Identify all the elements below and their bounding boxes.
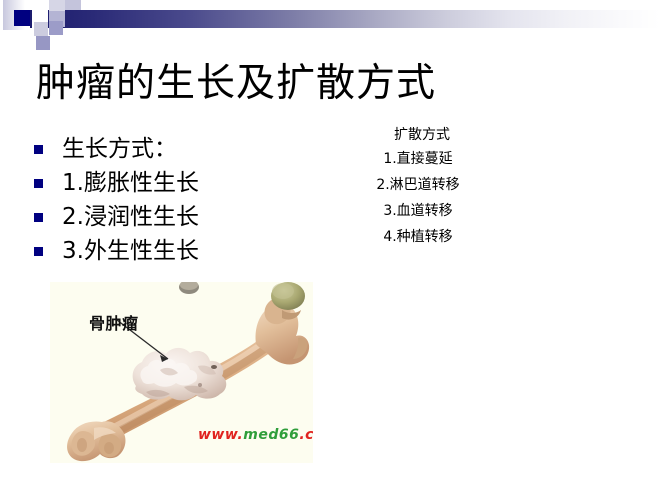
list-item: 3.外生性生长	[34, 234, 294, 268]
list-item-label: 1.膨胀性生长	[62, 170, 199, 196]
list-item: 1.膨胀性生长	[34, 166, 294, 200]
list-item-label: 2.浸润性生长	[62, 204, 199, 230]
watermark-prefix: www.	[198, 427, 243, 443]
header-gradient-bar	[30, 10, 660, 28]
page-title: 肿瘤的生长及扩散方式	[36, 61, 436, 107]
femur-distal-end	[67, 421, 125, 461]
square-bullet-icon	[34, 247, 43, 256]
list-item: 2.浸润性生长	[34, 200, 294, 234]
watermark: www.med66.com	[198, 427, 313, 443]
bone-fragment	[179, 282, 199, 294]
bone-tumor-mass	[133, 348, 227, 401]
growth-methods-list: 生长方式： 1.膨胀性生长 2.浸润性生长 3.外生性生长	[34, 132, 294, 268]
list-item-label: 3.血道转移	[318, 198, 518, 224]
watermark-suffix: .com	[299, 427, 313, 443]
watermark-mid: med66	[243, 427, 299, 443]
header-decoration	[0, 0, 660, 46]
spread-list-heading: 扩散方式	[318, 124, 518, 146]
decorative-square	[63, 0, 81, 10]
decorative-square	[34, 22, 48, 36]
list-item-label: 2.淋巴道转移	[318, 172, 518, 198]
list-item: 生长方式：	[34, 132, 294, 166]
square-bullet-icon	[34, 179, 43, 188]
list-item-label: 1.直接蔓延	[318, 146, 518, 172]
slide-canvas: 肿瘤的生长及扩散方式 生长方式： 1.膨胀性生长 2.浸润性生长 3.外生性生长…	[0, 0, 660, 480]
square-bullet-icon	[34, 145, 43, 154]
square-bullet-icon	[34, 213, 43, 222]
spread-methods-list: 扩散方式 1.直接蔓延 2.淋巴道转移 3.血道转移 4.种植转移	[318, 124, 518, 250]
list-item-label: 生长方式：	[62, 136, 177, 162]
decorative-square	[49, 21, 63, 35]
bone-tumor-figure: 骨肿瘤 www.med66.com	[50, 282, 313, 463]
figure-caption-label: 骨肿瘤	[89, 310, 139, 334]
list-item-label: 4.种植转移	[318, 224, 518, 250]
decorative-square-accent	[14, 10, 30, 26]
decorative-square	[36, 36, 50, 50]
list-item-label: 3.外生性生长	[62, 238, 199, 264]
